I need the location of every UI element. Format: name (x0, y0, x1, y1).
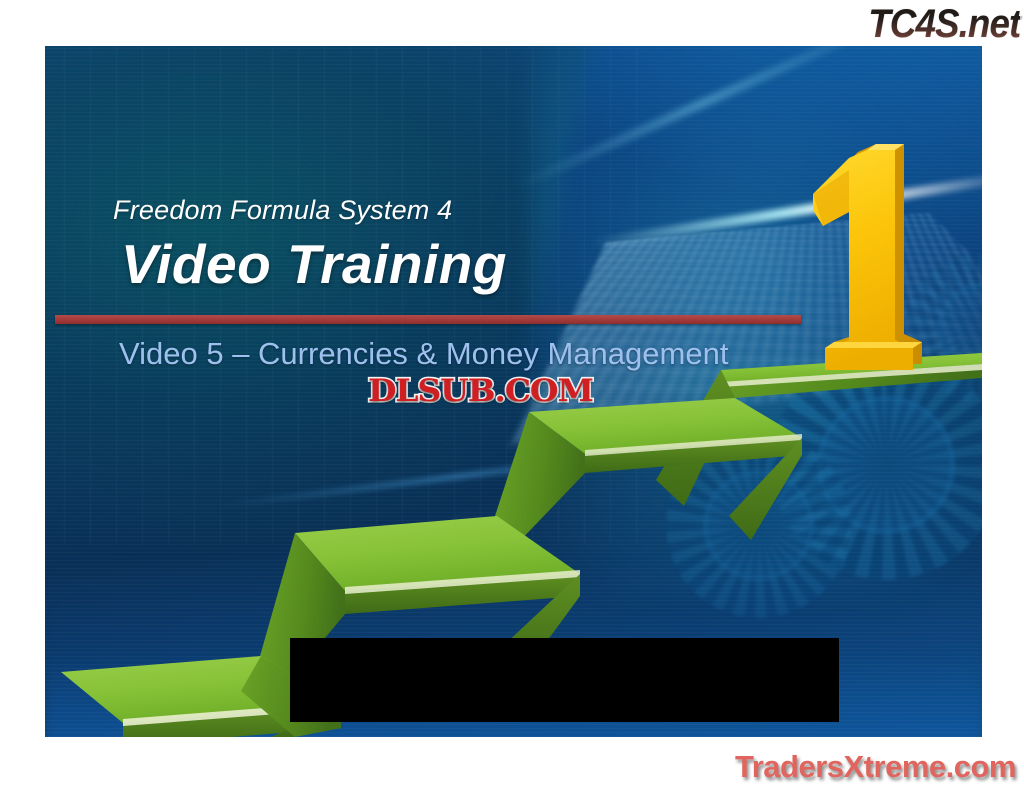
slide-subtitle: Video 5 – Currencies & Money Management (119, 336, 728, 372)
dlsub-watermark: DLSUB.COM (368, 373, 593, 409)
tradersxtreme-watermark: TradersXtreme.com (735, 749, 1016, 785)
tc4s-watermark: TC4S.net (868, 2, 1020, 47)
redaction-bar (290, 638, 839, 722)
page-title: Video Training (121, 232, 507, 296)
slide-eyebrow: Freedom Formula System 4 (113, 195, 452, 226)
presentation-slide: Freedom Formula System 4 Video Training … (45, 46, 982, 737)
title-divider-rule (55, 315, 801, 324)
